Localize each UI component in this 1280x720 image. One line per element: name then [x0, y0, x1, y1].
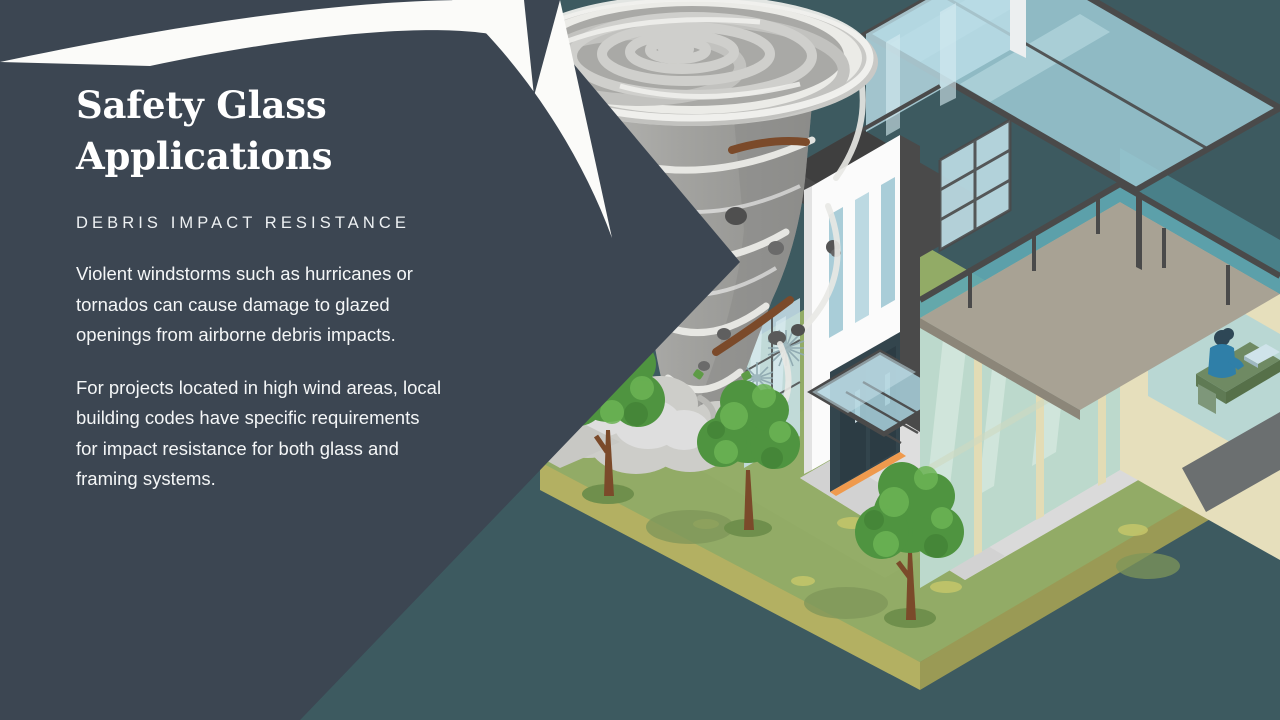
flying-rock	[768, 331, 786, 345]
slide-root: Safety Glass Applications DEBRIS IMPACT …	[0, 0, 1280, 720]
illustration-artboard	[0, 0, 1280, 720]
